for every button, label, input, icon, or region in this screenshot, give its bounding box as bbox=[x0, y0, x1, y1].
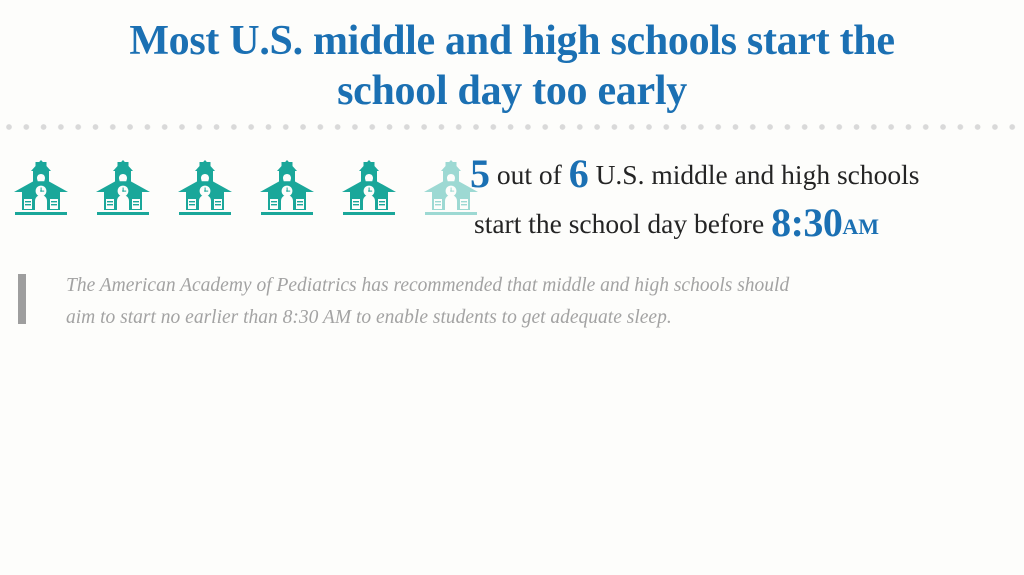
schoolhouse-icon bbox=[174, 158, 236, 220]
recommendation-quote: The American Academy of Pediatrics has r… bbox=[18, 272, 1008, 336]
schoolhouse-icon bbox=[256, 158, 318, 220]
schools-denominator: 6 bbox=[569, 151, 589, 196]
page-title: Most U.S. middle and high schools start … bbox=[0, 16, 1024, 116]
quote-line-2: aim to start no earlier than 8:30 AM to … bbox=[66, 302, 1011, 334]
schoolhouse-icon bbox=[338, 158, 400, 220]
schools-mid-2: U.S. middle and high schools bbox=[589, 159, 920, 190]
schoolhouse-icon bbox=[92, 158, 154, 220]
schools-time-ampm: AM bbox=[842, 214, 879, 239]
quote-text: The American Academy of Pediatrics has r… bbox=[66, 270, 1011, 334]
bottom-stat-section: 2 out of 3 U.S. high school students sle… bbox=[0, 470, 1024, 570]
quote-accent-bar bbox=[18, 274, 26, 324]
schools-stat-line-1: 5 out of 6 U.S. middle and high schools bbox=[470, 152, 1024, 197]
quote-line-1: The American Academy of Pediatrics has r… bbox=[66, 270, 1011, 302]
title-line-1: Most U.S. middle and high schools start … bbox=[129, 18, 894, 64]
dotted-divider bbox=[6, 124, 1018, 132]
schools-stat-section: 5 out of 6 U.S. middle and high schools … bbox=[0, 152, 1024, 260]
schoolhouse-icon-group bbox=[10, 158, 482, 220]
schools-mid-1: out of bbox=[490, 159, 569, 190]
schools-line2-prefix: start the school day before bbox=[474, 208, 771, 239]
schoolhouse-icon bbox=[10, 158, 72, 220]
schools-time-value: 8:30 bbox=[771, 200, 842, 245]
schools-numerator: 5 bbox=[470, 151, 490, 196]
sleep-need-section: Teens need at least 8 hours of sleep per… bbox=[0, 360, 1024, 446]
schools-stat-line-2: start the school day before 8:30AM bbox=[470, 197, 1024, 248]
schools-stat-text: 5 out of 6 U.S. middle and high schools … bbox=[470, 152, 1024, 248]
infographic-page: Most U.S. middle and high schools start … bbox=[0, 0, 1024, 575]
title-line-2: school day too early bbox=[0, 66, 1024, 116]
